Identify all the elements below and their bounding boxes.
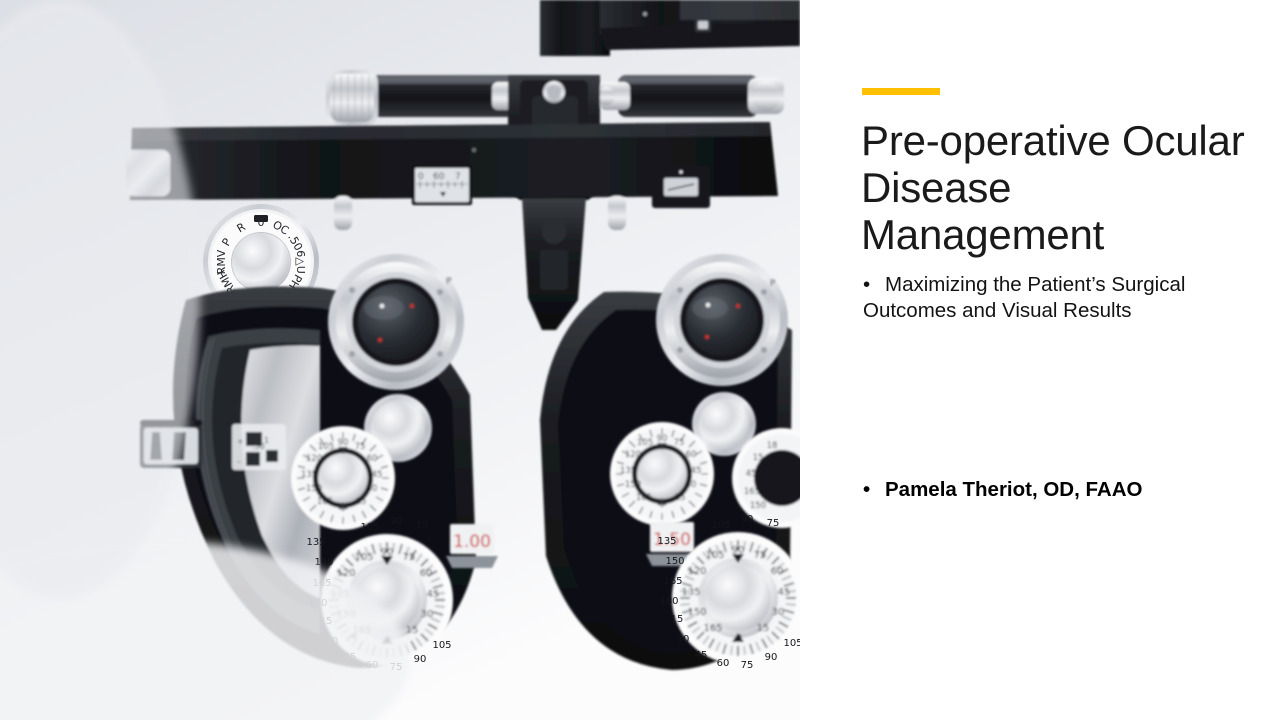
svg-text:105: 105 [432,640,451,651]
svg-text:60: 60 [686,450,697,460]
svg-text:.50: .50 [252,442,265,451]
subtitle-text: Maximizing the Patient’s Surgical Outcom… [863,273,1185,322]
svg-text:0: 0 [258,216,265,229]
svg-text:90: 90 [338,438,349,448]
svg-text:150: 150 [687,607,706,618]
svg-text:165: 165 [703,623,722,634]
accent-bar [862,88,940,95]
text-panel: Pre-operative Ocular Disease Management … [800,0,1280,720]
svg-text:135: 135 [620,466,636,476]
svg-text:105: 105 [705,550,724,561]
svg-text:6△U: 6△U [294,250,307,274]
svg-text:75: 75 [355,442,366,452]
svg-text:105: 105 [360,522,379,533]
slide: 0 60 7 [0,0,1280,720]
svg-text:RMV: RMV [215,249,228,274]
svg-text:105: 105 [354,552,373,563]
author-name: Pamela Theriot, OD, FAAO [885,478,1142,501]
svg-text:30: 30 [367,484,378,494]
svg-text:15: 15 [406,625,419,636]
subtitle-bullet-item: •Maximizing the Patient’s Surgical Outco… [863,272,1193,324]
svg-text:105: 105 [711,520,730,531]
svg-text:60: 60 [433,172,445,182]
svg-text:105: 105 [318,442,334,452]
svg-text:90: 90 [414,654,427,665]
svg-text:150: 150 [306,484,322,494]
svg-text:75: 75 [403,552,416,563]
svg-text:1: 1 [264,436,269,445]
svg-text:120: 120 [336,568,355,579]
svg-text:60: 60 [420,568,433,579]
svg-text:150: 150 [750,501,766,511]
svg-text:30: 30 [421,609,434,620]
bullet-glyph: • [863,272,885,298]
svg-text:165: 165 [317,497,333,507]
svg-text:120: 120 [687,566,706,577]
left-power-readout: 1.00 [453,532,491,552]
svg-text:60: 60 [367,454,378,464]
svg-text:60: 60 [771,566,784,577]
phoropter-illustration: 0 60 7 [0,0,800,720]
svg-text:75: 75 [754,550,767,561]
svg-text:45: 45 [746,469,757,479]
svg-text:165: 165 [744,487,760,497]
svg-text:105: 105 [637,438,653,448]
svg-text:45: 45 [778,587,791,598]
svg-text:165: 165 [636,493,652,503]
svg-text:135: 135 [306,537,325,548]
svg-text:135: 135 [681,587,700,598]
svg-text:150: 150 [665,556,684,567]
svg-text:15: 15 [671,614,684,625]
svg-text:120: 120 [625,450,641,460]
svg-text:15: 15 [753,453,764,463]
svg-text:P: P [770,279,776,289]
svg-text:135: 135 [301,470,317,480]
svg-text:15: 15 [757,623,770,634]
svg-text:150: 150 [314,557,333,568]
phoropter-photo: 0 60 7 [0,0,800,720]
page-title: Pre-operative Ocular Disease Management [861,117,1261,258]
svg-text:75: 75 [767,518,780,529]
svg-text:45: 45 [372,470,383,480]
svg-text:90: 90 [741,514,754,525]
svg-text:90: 90 [765,652,778,663]
svg-text:75: 75 [674,438,685,448]
svg-text:30: 30 [772,607,785,618]
svg-text:180: 180 [659,596,678,607]
svg-text:105: 105 [783,638,800,649]
svg-text:45: 45 [691,466,702,476]
svg-text:75: 75 [741,660,754,671]
svg-text:30: 30 [677,634,690,645]
svg-text:60: 60 [717,658,730,669]
svg-text:90: 90 [657,434,668,444]
bullet-glyph: • [863,477,885,503]
svg-text:150: 150 [625,480,641,490]
svg-text:+: + [237,437,244,446]
svg-text:P: P [446,277,452,287]
svg-text:45: 45 [695,650,708,661]
svg-text:15: 15 [356,497,367,507]
svg-text:120: 120 [306,454,322,464]
svg-text:7: 7 [455,172,461,182]
author-bullet-item: •Pamela Theriot, OD, FAAO [863,477,1243,503]
svg-text:45: 45 [427,589,440,600]
svg-text:90: 90 [390,516,403,527]
svg-text:75: 75 [416,520,429,531]
svg-text:18: 18 [767,441,778,451]
svg-text:30: 30 [686,480,697,490]
svg-text:–: – [237,457,241,466]
svg-text:0: 0 [418,172,424,182]
svg-text:15: 15 [675,493,686,503]
svg-text:165: 165 [663,576,682,587]
svg-text:135: 135 [657,536,676,547]
